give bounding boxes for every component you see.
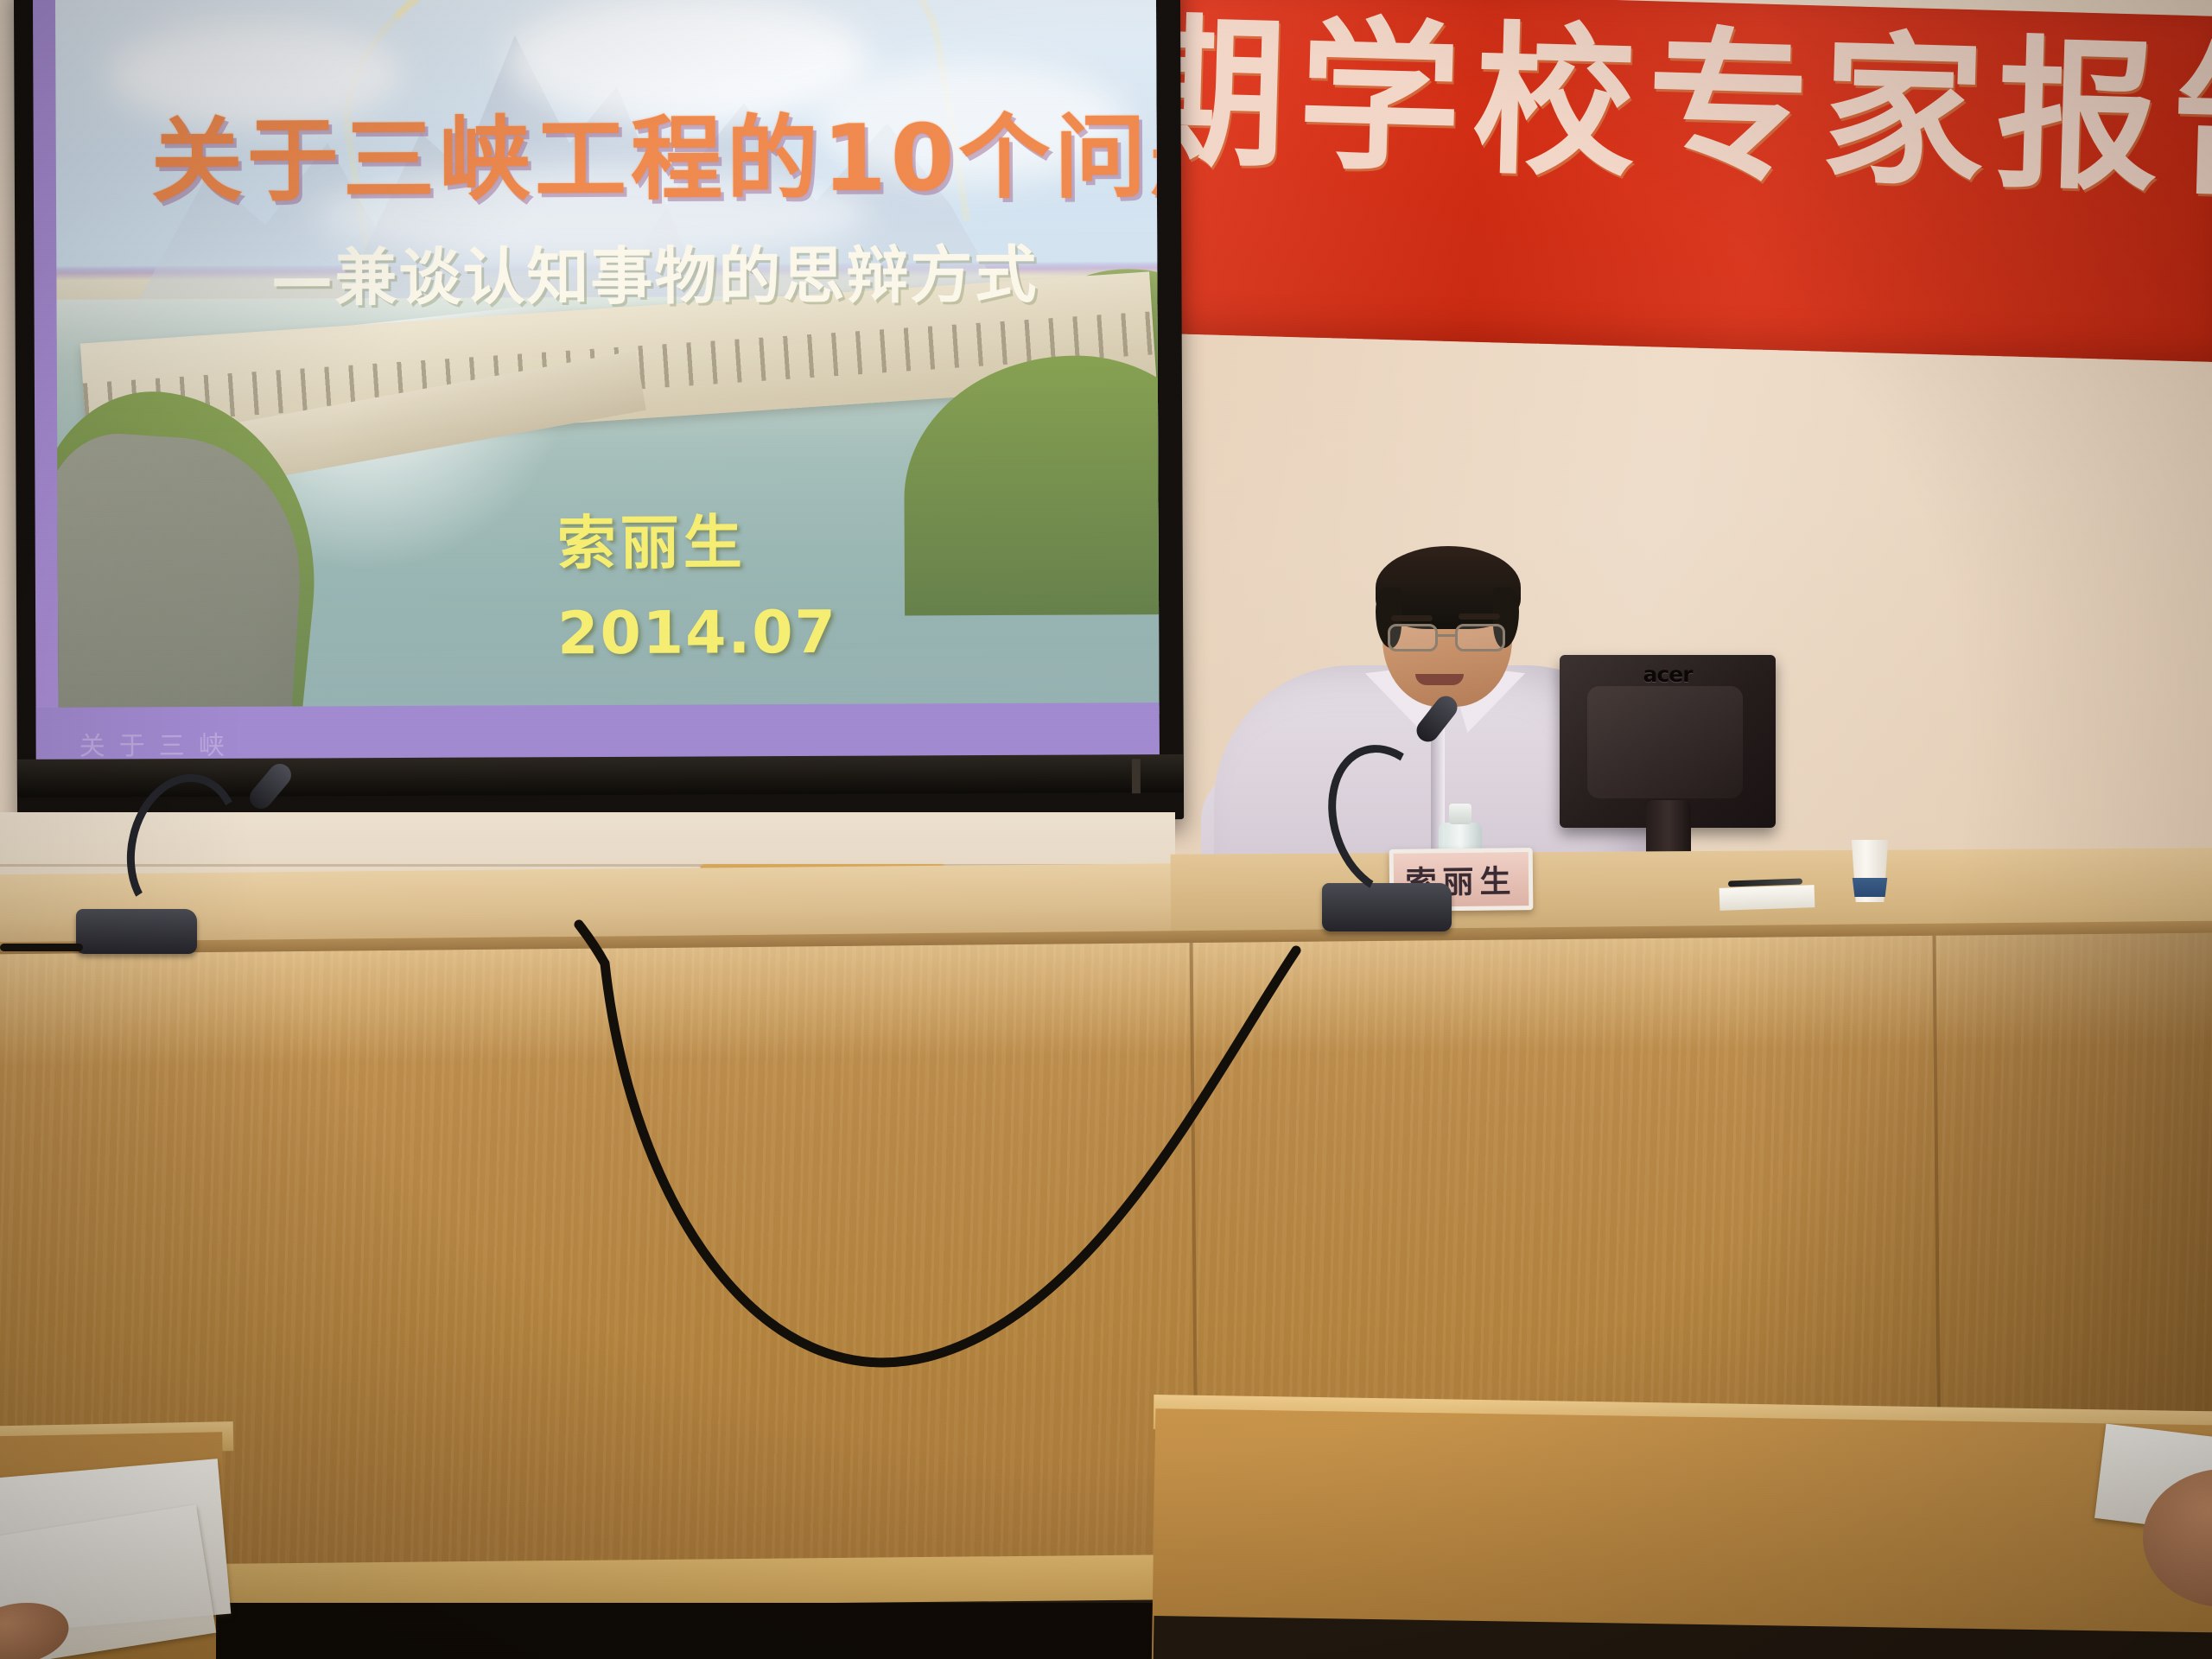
banner-text: 期学校专家报告 xyxy=(1159,11,2212,207)
photo-scene: 期学校专家报告 xyxy=(0,0,2212,1659)
eyebrow-right xyxy=(1459,613,1500,620)
floor-gap xyxy=(216,1603,1184,1659)
monitor-brand-logo: acer xyxy=(1560,662,1776,687)
glasses-icon xyxy=(1388,624,1509,653)
slide-subtitle: —兼谈认知事物的思辩方式 xyxy=(270,244,1038,309)
glasses-lens-left xyxy=(1388,624,1438,652)
event-banner: 期学校专家报告 xyxy=(1159,0,2212,362)
microphone-cable xyxy=(0,916,1642,1365)
screen-strap xyxy=(1132,759,1141,793)
glasses-lens-right xyxy=(1455,624,1505,652)
desk-paper-slip xyxy=(1719,885,1815,911)
screen-surface: 关于三峡工程的10个问题 —兼谈认知事物的思辩方式 索丽生 2014.07 xyxy=(33,0,1160,770)
bottle-cap xyxy=(1449,804,1471,824)
projection-screen: 关于三峡工程的10个问题 —兼谈认知事物的思辩方式 索丽生 2014.07 关于… xyxy=(14,0,1184,824)
slide-title: 关于三峡工程的10个问题 xyxy=(151,111,1160,208)
mic-left-cord xyxy=(0,944,83,951)
slide-author: 索丽生 xyxy=(557,514,747,574)
presentation-slide: 关于三峡工程的10个问题 —兼谈认知事物的思辩方式 索丽生 2014.07 xyxy=(55,0,1160,719)
computer-monitor: acer xyxy=(1560,655,1776,854)
eyebrow-left xyxy=(1391,615,1433,621)
presenter-mouth xyxy=(1415,674,1464,685)
paper-cup-band xyxy=(1851,878,1889,897)
glasses-bridge xyxy=(1438,634,1457,637)
slide-date: 2014.07 xyxy=(557,604,837,664)
monitor-rear-bulge xyxy=(1587,686,1743,798)
slide-footer-text: 关于三峡 xyxy=(79,724,238,763)
